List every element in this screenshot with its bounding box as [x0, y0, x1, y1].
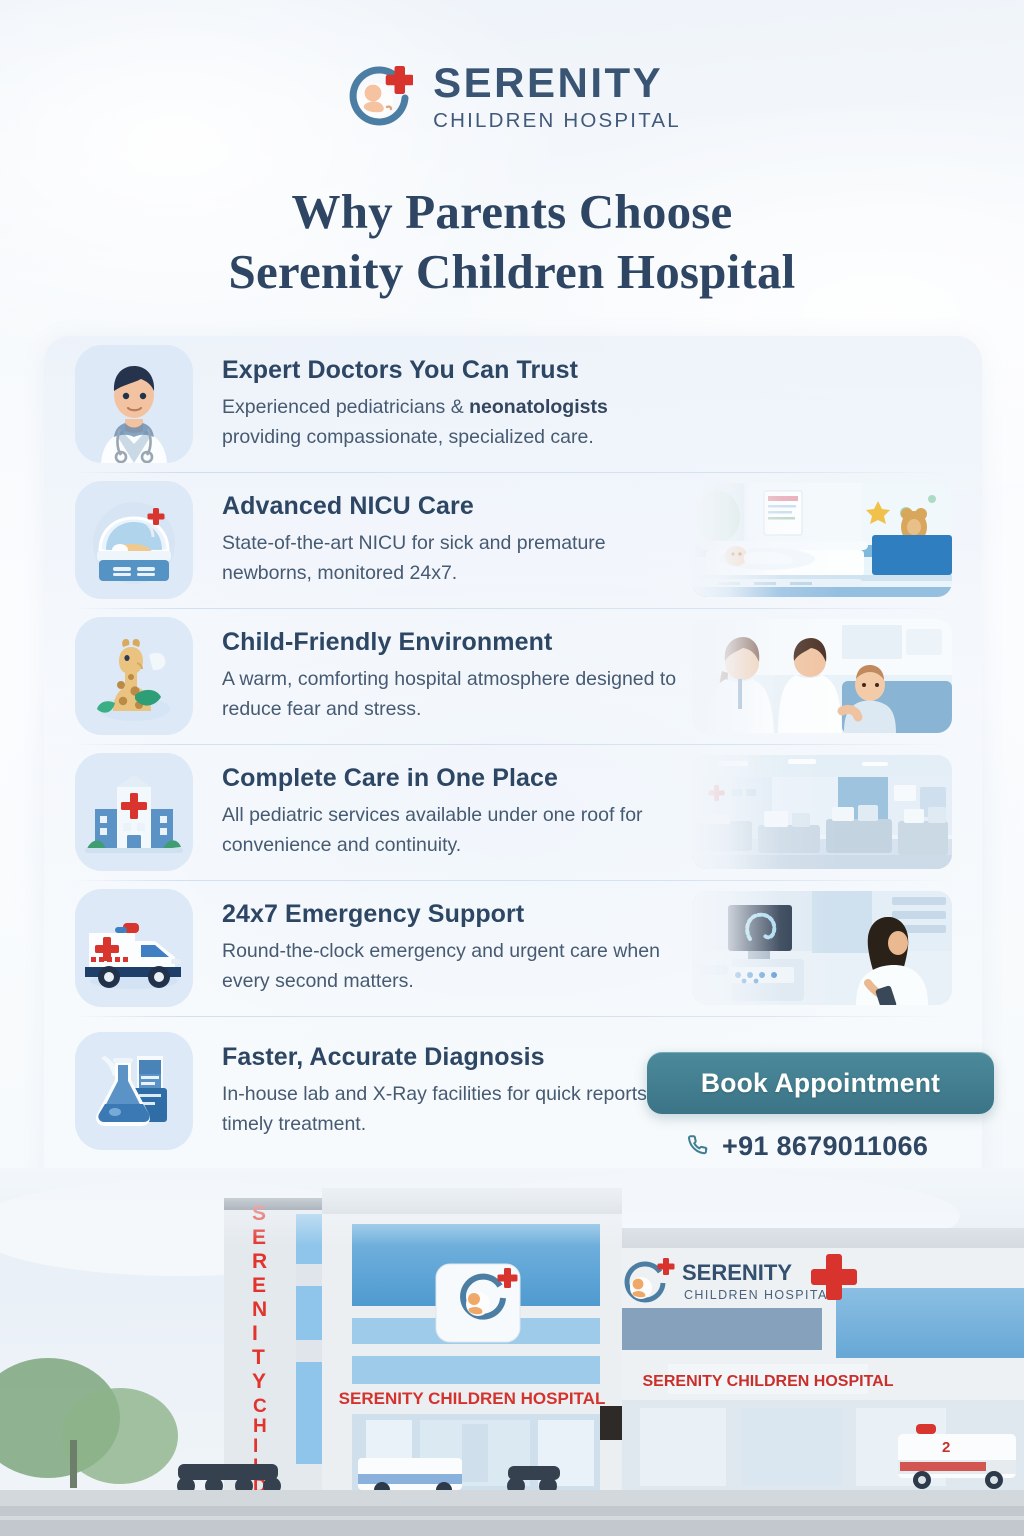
feature-body-part: providing compassionate, specialized car… [222, 426, 594, 448]
feature-row: Advanced NICU Care State-of-the-art NICU… [44, 472, 982, 608]
doctor-avatar-icon [75, 345, 193, 463]
giraffe-toy-icon [75, 617, 193, 735]
feature-photo [692, 619, 952, 733]
poster-root: SERENITY CHILDREN HOSPITAL Why Parents C… [0, 0, 1024, 1536]
feature-body: State-of-the-art NICU for sick and prema… [222, 529, 692, 587]
feature-row: 24x7 Emergency Support Round-the-clock e… [44, 880, 982, 1016]
svg-text:I: I [252, 1322, 258, 1345]
ambulance-icon [75, 889, 193, 1007]
feature-body-part: Experienced pediatricians & [222, 396, 469, 418]
svg-text:H: H [253, 1416, 267, 1437]
sonographer-at-ultrasound-machine-photo [692, 891, 952, 1005]
brand-name-secondary: CHILDREN HOSPITAL [433, 111, 681, 132]
lab-flask-icon [75, 1032, 193, 1150]
feature-body: All pediatric services available under o… [222, 801, 692, 859]
feature-body: Round-the-clock emergency and urgent car… [222, 937, 692, 995]
feature-row: Expert Doctors You Can Trust Experienced… [44, 336, 982, 472]
feature-row: Child-Friendly Environment A warm, comfo… [44, 608, 982, 744]
newborn-in-hospital-crib-photo [692, 483, 952, 597]
brand-name-primary: SERENITY [433, 62, 681, 104]
svg-text:SERENITY: SERENITY [682, 1260, 792, 1285]
feature-row: Complete Care in One Place All pediatric… [44, 744, 982, 880]
feature-title: Child-Friendly Environment [222, 628, 692, 657]
photo-top-fade [0, 1168, 1024, 1246]
incubator-icon [75, 481, 193, 599]
feature-body: In-house lab and X-Ray facilities for qu… [222, 1080, 692, 1138]
feature-title: Expert Doctors You Can Trust [222, 356, 692, 385]
feature-photo [692, 891, 952, 1005]
feature-title: Faster, Accurate Diagnosis [222, 1043, 692, 1072]
feature-body: Experienced pediatricians & neonatologis… [222, 393, 692, 451]
phone-line[interactable]: +91 8679011066 [647, 1131, 994, 1162]
svg-text:I: I [253, 1436, 258, 1457]
phone-number[interactable]: +91 8679011066 [722, 1131, 928, 1162]
feature-body: A warm, comforting hospital atmosphere d… [222, 665, 692, 723]
feature-title: 24x7 Emergency Support [222, 900, 692, 929]
svg-text:N: N [252, 1298, 267, 1321]
page-title: Why Parents Choose Serenity Children Hos… [0, 182, 1024, 302]
logo-icon [343, 62, 413, 132]
hospital-building-icon [75, 753, 193, 871]
svg-text:E: E [252, 1274, 266, 1297]
svg-text:SERENITY CHILDREN HOSPITAL: SERENITY CHILDREN HOSPITAL [339, 1389, 606, 1408]
svg-text:SERENITY CHILDREN HOSPITAL: SERENITY CHILDREN HOSPITAL [643, 1373, 894, 1390]
brand-header: SERENITY CHILDREN HOSPITAL [0, 62, 1024, 132]
svg-text:Y: Y [252, 1370, 266, 1393]
svg-text:R: R [252, 1250, 267, 1273]
hospital-building-photo: SER ENI TY CHI LD [0, 1168, 1024, 1536]
feature-title: Complete Care in One Place [222, 764, 692, 793]
svg-text:T: T [252, 1346, 265, 1369]
headline-line-2: Serenity Children Hospital [229, 244, 796, 299]
ambulance-number-text: 2 [942, 1439, 950, 1456]
doctor-with-mother-and-baby-photo [692, 619, 952, 733]
features-list: Expert Doctors You Can Trust Experienced… [44, 336, 982, 1166]
feature-photo [692, 483, 952, 597]
feature-body-emphasis: neonatologists [469, 396, 608, 418]
svg-text:C: C [253, 1396, 267, 1417]
hospital-ward-interior-photo [692, 755, 952, 869]
svg-text:CHILDREN HOSPITAL: CHILDREN HOSPITAL [684, 1288, 836, 1302]
feature-photo [692, 755, 952, 869]
book-appointment-button[interactable]: Book Appointment [647, 1052, 994, 1114]
feature-title: Advanced NICU Care [222, 492, 692, 521]
phone-icon [685, 1132, 709, 1161]
headline-line-1: Why Parents Choose [292, 184, 733, 239]
